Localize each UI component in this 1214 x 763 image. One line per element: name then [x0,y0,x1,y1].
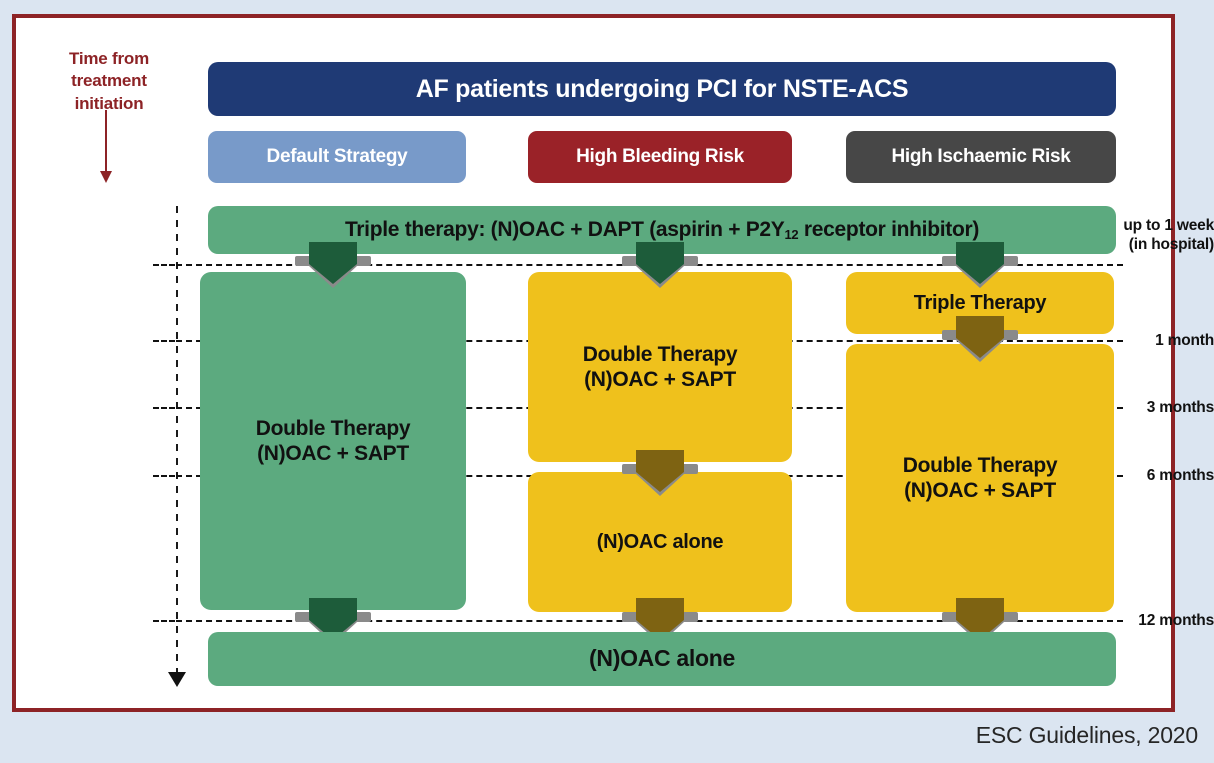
triple-therapy-text: Triple therapy: (N)OAC + DAPT (aspirin +… [345,217,979,242]
block-bleeding-double-therapy: Double Therapy (N)OAC + SAPT [528,272,792,462]
block-noac-alone-shared: (N)OAC alone [208,632,1116,686]
time-tick-1month [153,340,175,342]
strategy-header-ischaemic: High Ischaemic Risk [846,131,1116,183]
gridline-1week [176,264,1123,266]
time-tick-12months [153,620,175,622]
block-ischaemic-triple-therapy: Triple Therapy [846,272,1114,334]
block-bleeding-double-therapy-line2: (N)OAC + SAPT [583,367,738,392]
block-default-double-therapy: Double Therapy (N)OAC + SAPT [200,272,466,610]
time-axis-caption: Time from treatment initiation [34,48,184,115]
time-tick-3months [153,407,175,409]
time-direction-arrow-icon [105,110,107,172]
time-tick-6months [153,475,175,477]
block-ischaemic-double-therapy-line2: (N)OAC + SAPT [903,478,1058,503]
block-ischaemic-double-therapy: Double Therapy (N)OAC + SAPT [846,344,1114,612]
figure-title-bar: AF patients undergoing PCI for NSTE-ACS [208,62,1116,116]
block-bleeding-noac-alone: (N)OAC alone [528,472,792,612]
block-default-double-therapy-line1: Double Therapy [256,416,411,441]
strategy-header-default: Default Strategy [208,131,466,183]
strategy-header-bleeding: High Bleeding Risk [528,131,792,183]
block-ischaemic-double-therapy-line1: Double Therapy [903,453,1058,478]
block-ischaemic-triple-therapy-line1: Triple Therapy [914,291,1047,315]
timeline-arrow-icon [168,672,186,687]
time-axis-caption-line-3: initiation [34,93,184,115]
time-axis-caption-line-1: Time from [34,48,184,70]
block-default-double-therapy-line2: (N)OAC + SAPT [256,441,411,466]
time-axis-caption-line-2: treatment [34,70,184,92]
gridline-12months [176,620,1123,622]
block-bleeding-noac-alone-line1: (N)OAC alone [597,530,723,554]
timeline-vertical-line [176,206,178,676]
p2y12-subscript: 12 [785,227,799,242]
footer-credit: ESC Guidelines, 2020 [976,722,1198,749]
block-triple-therapy-shared: Triple therapy: (N)OAC + DAPT (aspirin +… [208,206,1116,254]
time-tick-1week [153,264,175,266]
block-bleeding-double-therapy-line1: Double Therapy [583,342,738,367]
